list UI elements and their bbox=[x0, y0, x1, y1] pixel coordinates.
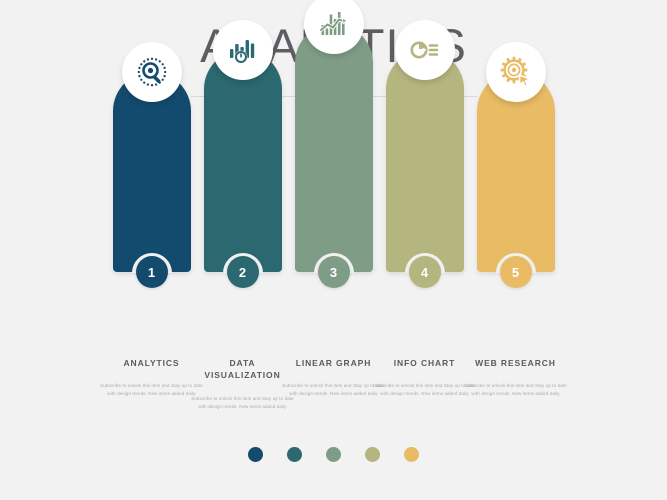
step-column-3[interactable]: 3 bbox=[295, 24, 373, 272]
step-caption-4: INFO CHARTSubscribe to unlock this item … bbox=[373, 357, 477, 399]
pie-legend-icon bbox=[395, 20, 455, 80]
step-description: Subscribe to unlock this item and Stay u… bbox=[464, 382, 568, 398]
step-caption-1: ANALYTICSSubscribe to unlock this item a… bbox=[100, 357, 204, 399]
pagination-dot-5[interactable] bbox=[404, 447, 419, 462]
step-number-badge: 3 bbox=[318, 256, 350, 288]
step-pillar: 3 bbox=[295, 24, 373, 272]
step-number-badge: 4 bbox=[409, 256, 441, 288]
line-graph-icon bbox=[304, 0, 364, 54]
step-number-badge: 2 bbox=[227, 256, 259, 288]
step-description: Subscribe to unlock this item and Stay u… bbox=[100, 382, 204, 398]
step-caption-3: LINEAR GRAPHSubscribe to unlock this ite… bbox=[282, 357, 386, 399]
step-label: INFO CHART bbox=[373, 357, 477, 369]
step-pillar: 4 bbox=[386, 50, 464, 272]
step-label: DATA VISUALIZATION bbox=[191, 357, 295, 382]
step-label: ANALYTICS bbox=[100, 357, 204, 369]
step-column-4[interactable]: 4 bbox=[386, 50, 464, 272]
step-caption-2: DATA VISUALIZATIONSubscribe to unlock th… bbox=[191, 357, 295, 411]
step-description: Subscribe to unlock this item and Stay u… bbox=[191, 395, 295, 411]
step-description: Subscribe to unlock this item and Stay u… bbox=[282, 382, 386, 398]
magnifier-analytics-icon bbox=[122, 42, 182, 102]
step-description: Subscribe to unlock this item and Stay u… bbox=[373, 382, 477, 398]
pagination-dot-1[interactable] bbox=[248, 447, 263, 462]
pagination-dot-4[interactable] bbox=[365, 447, 380, 462]
bar-chart-clock-icon bbox=[213, 20, 273, 80]
step-number-badge: 5 bbox=[500, 256, 532, 288]
step-pillar: 5 bbox=[477, 72, 555, 272]
gear-cursor-icon bbox=[486, 42, 546, 102]
step-pillar: 1 bbox=[113, 72, 191, 272]
step-caption-5: WEB RESEARCHSubscribe to unlock this ite… bbox=[464, 357, 568, 399]
step-pillar: 2 bbox=[204, 50, 282, 272]
step-label: WEB RESEARCH bbox=[464, 357, 568, 369]
step-column-1[interactable]: 1 bbox=[113, 72, 191, 272]
pagination-dots[interactable] bbox=[0, 447, 667, 462]
step-label: LINEAR GRAPH bbox=[282, 357, 386, 369]
pagination-dot-3[interactable] bbox=[326, 447, 341, 462]
step-number-badge: 1 bbox=[136, 256, 168, 288]
step-column-5[interactable]: 5 bbox=[477, 72, 555, 272]
pagination-dot-2[interactable] bbox=[287, 447, 302, 462]
step-column-2[interactable]: 2 bbox=[204, 50, 282, 272]
